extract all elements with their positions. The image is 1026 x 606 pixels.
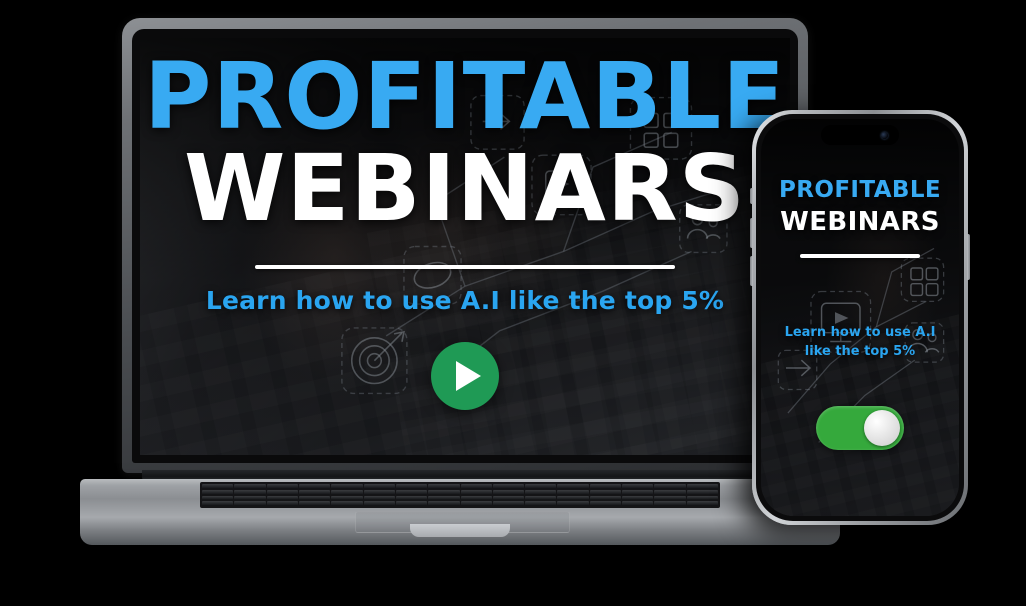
laptop-title-line-2: WEBINARS	[184, 144, 746, 234]
phone-power-button[interactable]	[967, 234, 970, 280]
laptop-screen: PROFITABLE WEBINARS Learn how to use A.I…	[140, 38, 790, 455]
phone-silent-switch[interactable]	[750, 188, 753, 204]
laptop-bezel: PROFITABLE WEBINARS Learn how to use A.I…	[132, 29, 798, 463]
phone-title-line-2: WEBINARS	[780, 207, 940, 237]
toggle-knob	[864, 410, 900, 446]
laptop-keyboard	[200, 482, 720, 508]
keyboard-row	[202, 501, 718, 506]
laptop-trackpad	[355, 511, 570, 533]
phone-screen-content: PROFITABLE WEBINARS Learn how to use A.I…	[761, 119, 959, 516]
laptop-screen-content: PROFITABLE WEBINARS Learn how to use A.I…	[140, 38, 790, 455]
laptop-divider-rule	[255, 265, 675, 269]
mockup-scene: PROFITABLE WEBINARS Learn how to use A.I…	[0, 0, 1026, 606]
play-button[interactable]	[431, 342, 499, 410]
laptop-lid: PROFITABLE WEBINARS Learn how to use A.I…	[122, 18, 808, 473]
keyboard-row	[202, 484, 718, 489]
phone-subtitle: Learn how to use A.I like the top 5%	[780, 324, 940, 362]
play-icon	[456, 361, 481, 391]
phone-title-line-1: PROFITABLE	[779, 177, 941, 203]
phone-volume-down-button[interactable]	[750, 256, 753, 286]
laptop-subtitle: Learn how to use A.I like the top 5%	[206, 286, 724, 315]
laptop-device: PROFITABLE WEBINARS Learn how to use A.I…	[80, 18, 840, 558]
keyboard-row	[202, 496, 718, 501]
phone-toggle-switch[interactable]	[816, 406, 904, 450]
laptop-base	[80, 479, 840, 545]
phone-screen: PROFITABLE WEBINARS Learn how to use A.I…	[761, 119, 959, 516]
phone-bezel: PROFITABLE WEBINARS Learn how to use A.I…	[756, 114, 964, 521]
phone-volume-up-button[interactable]	[750, 218, 753, 248]
front-camera-icon	[881, 132, 888, 139]
keyboard-row	[202, 490, 718, 495]
phone-device: PROFITABLE WEBINARS Learn how to use A.I…	[752, 110, 968, 525]
laptop-title-line-1: PROFITABLE	[144, 54, 786, 140]
phone-notch	[821, 125, 899, 145]
phone-divider-rule	[800, 254, 920, 258]
